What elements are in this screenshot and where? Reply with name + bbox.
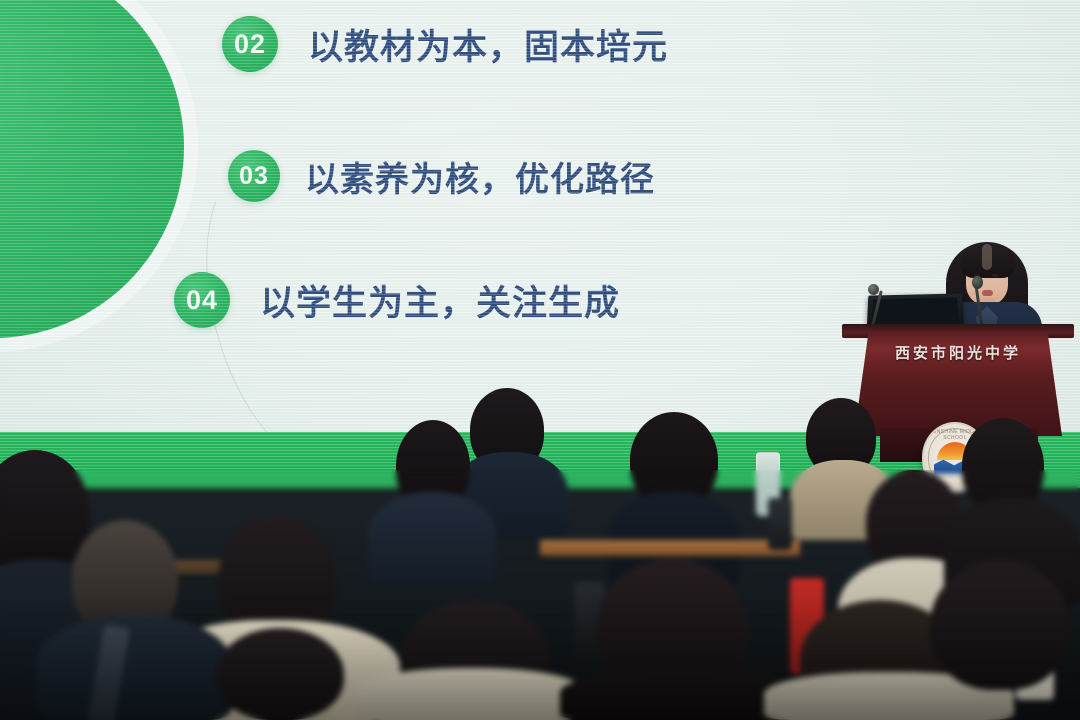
- audience-body: [36, 616, 232, 720]
- audience-body: [356, 668, 586, 720]
- audience-head: [216, 628, 344, 720]
- podium-name-plate: 西安市阳光中学: [854, 342, 1062, 363]
- desk-ledge: [540, 540, 800, 556]
- bullet-number-04: 04: [174, 272, 230, 328]
- slide-bullet-04: 04 以学生为主，关注生成: [174, 272, 620, 328]
- bullet-text-04: 以学生为主，关注生成: [260, 275, 620, 326]
- microphone-head-right: [972, 276, 983, 289]
- slide-bullet-02: 02 以教材为本，固本培元: [222, 16, 668, 72]
- slide-bullet-03: 03 以素养为核，优化路径: [228, 150, 655, 202]
- thermos-black: [768, 498, 792, 550]
- audience-head: [930, 560, 1070, 690]
- microphone-head-left: [868, 284, 879, 295]
- bullet-text-03: 以素养为核，优化路径: [305, 152, 655, 201]
- podium: 西安市阳光中学 SUNSHINE MIDDLE SCHOOL: [836, 232, 1080, 432]
- photo-screenshot: 日初心 素养”应 万变 02 以教材为本，固本培元 03 以素养为核，优化路径 …: [0, 0, 1080, 720]
- audience-body: [368, 492, 496, 584]
- bullet-number-03: 03: [228, 150, 280, 202]
- bullet-text-02: 以教材为本，固本培元: [308, 19, 668, 70]
- bullet-number-02: 02: [222, 16, 278, 72]
- slide-left-green-circle: [0, 0, 184, 338]
